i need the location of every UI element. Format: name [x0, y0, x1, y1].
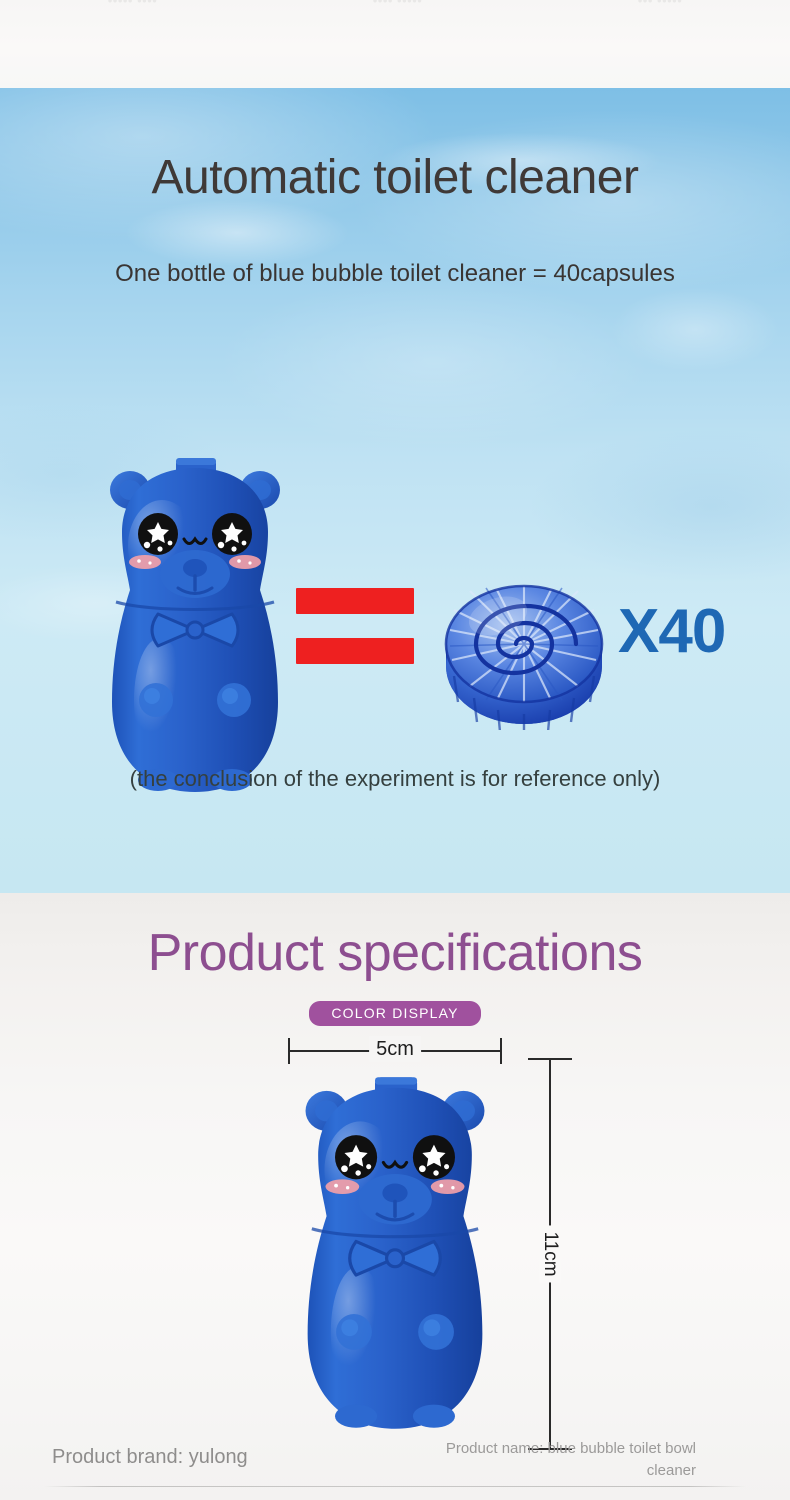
height-dimension: 11cm [520, 1058, 580, 1450]
hero-subtitle: One bottle of blue bubble toilet cleaner… [0, 260, 790, 288]
color-display-badge: COLOR DISPLAY [309, 1001, 480, 1026]
equals-sign [296, 588, 414, 664]
spec-bear-bottle-illustration [295, 1062, 495, 1444]
hero-title: Automatic toilet cleaner [0, 150, 790, 205]
ghost-fragment: ••••• •••• [108, 0, 158, 8]
bear-bottle-illustration [100, 450, 290, 800]
product-name-label: Product name: blue bubble toilet bowl cl… [396, 1438, 696, 1482]
ghost-text-row: ••••• •••• •••• ••••• ••• ••••• [0, 0, 790, 9]
equals-bar-bottom [296, 638, 414, 664]
equals-bar-top [296, 588, 414, 614]
dimension-tick-right [500, 1038, 502, 1064]
hero-disclaimer: (the conclusion of the experiment is for… [0, 766, 790, 792]
product-detail-page: ••••• •••• •••• ••••• ••• ••••• Automati… [0, 0, 790, 1500]
product-brand-label: Product brand: yulong [52, 1446, 248, 1469]
hero-section: Automatic toilet cleaner One bottle of b… [0, 88, 790, 893]
width-label: 5cm [369, 1036, 421, 1062]
ghost-fragment: •••• ••••• [373, 0, 423, 8]
width-dimension: 5cm [288, 1038, 502, 1064]
multiplier-label: X40 [618, 596, 725, 667]
color-display-badge-wrap: COLOR DISPLAY [0, 1001, 790, 1026]
ghost-fragment: ••• ••••• [638, 0, 683, 8]
equation-row: X40 [0, 358, 790, 738]
capsule-illustration [440, 558, 608, 730]
top-cropped-strip: ••••• •••• •••• ••••• ••• ••••• [0, 0, 790, 88]
footer-divider [44, 1486, 746, 1487]
height-label: 11cm [539, 1225, 561, 1282]
specs-title: Product specifications [0, 923, 790, 983]
